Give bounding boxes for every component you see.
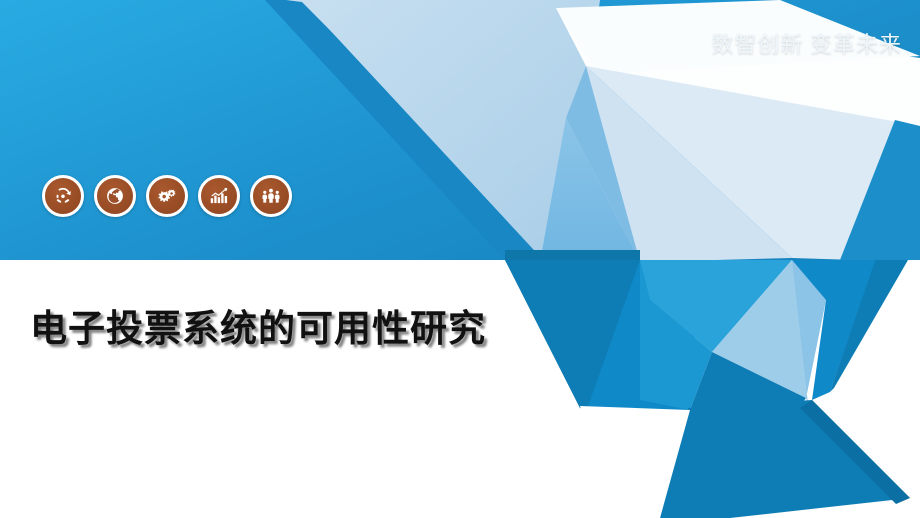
poly-lower-ice-center: [712, 260, 826, 398]
bar-chart-growth-icon: [208, 185, 230, 207]
icon-badge-gears[interactable]: [146, 175, 188, 217]
recycle-arrows-icon: [52, 185, 74, 207]
poly-lower-blue-left-face: [586, 260, 700, 412]
poly-bottom-tail: [660, 400, 910, 518]
gears-icon: [156, 185, 178, 207]
icon-badge-globe[interactable]: [94, 175, 136, 217]
poly-lower-right-edge: [830, 258, 908, 392]
presentation-slide: 数智创新 变革未来: [0, 0, 920, 518]
poly-lower-bright-center: [640, 260, 792, 352]
poly-tail-highlight: [580, 406, 690, 518]
icon-badge-recycle-arrows[interactable]: [42, 175, 84, 217]
poly-lower-ice-center-2: [792, 260, 826, 404]
poly-lower-dark-left: [505, 260, 690, 410]
lower-polygon-group: [505, 258, 910, 518]
poly-lower-bright-center-2: [640, 260, 712, 410]
globe-icon: [104, 185, 126, 207]
page-title: 电子投票系统的可用性研究: [30, 298, 486, 352]
icon-badge-people-group[interactable]: [250, 175, 292, 217]
poly-bottom-tail-edge: [800, 400, 910, 504]
slide-tagline: 数智创新 变革未来: [711, 27, 902, 59]
people-group-icon: [260, 185, 282, 207]
poly-lower-right-dark: [792, 260, 876, 400]
feature-icon-row: [42, 175, 292, 217]
poly-lower-mid-left: [505, 260, 660, 412]
poly-lower-center-dark: [690, 352, 806, 460]
icon-badge-bar-chart-growth[interactable]: [198, 175, 240, 217]
